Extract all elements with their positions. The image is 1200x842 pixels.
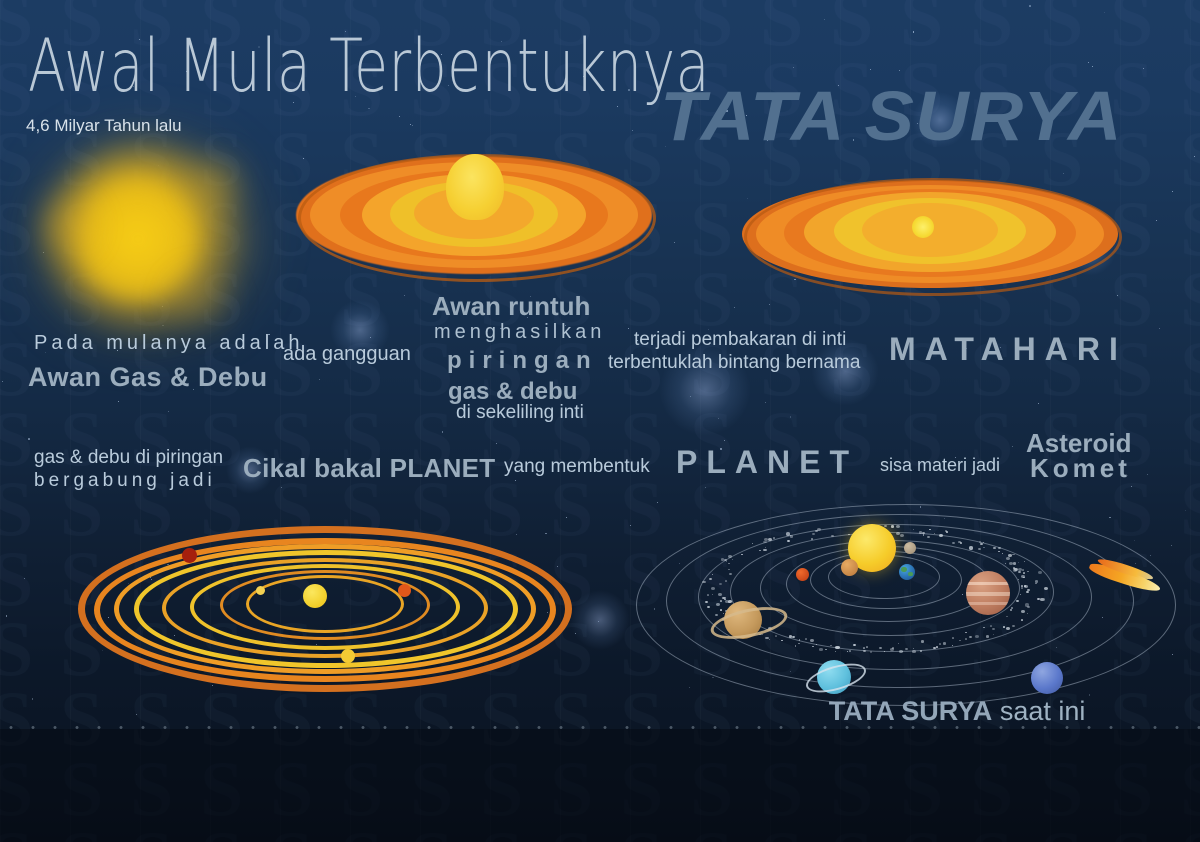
planetesimal — [303, 584, 327, 608]
planet-uranus — [806, 655, 864, 697]
protoplanetary-disk-1 — [296, 148, 652, 284]
caption-collapse-4: gas & debu — [448, 378, 577, 406]
caption-collapse-2: menghasilkan — [434, 321, 605, 344]
label-asteroid: Asteroid — [1026, 428, 1131, 459]
label-protoplanet: Cikal bakal PLANET — [243, 453, 495, 484]
watermark-pattern — [0, 0, 1200, 842]
gas-cloud-illustration — [20, 120, 270, 355]
label-planet: PLANET — [676, 444, 858, 481]
caption-cloud-bold: Awan Gas & Debu — [28, 362, 268, 393]
caption-fusion-2: terbentuklah bintang bernama — [608, 352, 860, 374]
planet-venus — [841, 559, 858, 576]
caption-disturbance: ada gangguan — [283, 343, 411, 366]
caption-merge-2: bergabung jadi — [34, 470, 216, 492]
comet — [1085, 551, 1165, 602]
caption-collapse-1: Awan runtuh — [432, 291, 590, 322]
planet-neptune — [1031, 662, 1063, 694]
label-komet: Komet — [1030, 453, 1131, 484]
label-current-system-bold: TATA SURYA — [829, 696, 993, 726]
caption-cloud-light: Pada mulanya adalah — [34, 332, 303, 355]
protoplanetary-disk-2 — [742, 176, 1118, 294]
caption-leftover: sisa materi jadi — [880, 455, 1000, 476]
planet-mars — [796, 568, 809, 581]
page-subtitle: 4,6 Milyar Tahun lalu — [26, 116, 182, 136]
planet-earth — [899, 564, 915, 580]
planet-saturn — [711, 596, 781, 644]
protoplanetary-orbits-illustration — [78, 522, 562, 682]
headline-tata-surya: TATA SURYA — [660, 76, 1123, 156]
caption-fusion-1: terjadi pembakaran di inti — [634, 329, 846, 351]
caption-collapse-3: piringan — [447, 347, 598, 375]
page-title: Awal Mula Terbentuknya — [28, 24, 710, 109]
footer: LANGITSELATANASTRO 101•• — [0, 729, 1200, 842]
planetesimal — [256, 586, 265, 595]
planetesimal — [182, 548, 197, 563]
caption-forming: yang membentuk — [504, 456, 650, 478]
planet-sun — [848, 524, 896, 572]
label-current-system-light: saat ini — [1000, 696, 1086, 726]
label-matahari: MATAHARI — [889, 331, 1127, 368]
planet-mercury — [904, 542, 916, 554]
planet-jupiter — [966, 571, 1010, 615]
caption-collapse-5: di sekeliling inti — [456, 402, 584, 424]
infographic-poster: SSSSSSSSSSSSSSSSSSSSSSSSSSSSSSSSSSSSSSSS… — [0, 0, 1200, 842]
planetesimal — [341, 649, 355, 663]
caption-merge-1: gas & debu di piringan — [34, 447, 223, 469]
planetesimal — [398, 584, 411, 597]
current-solar-system-diagram — [648, 500, 1200, 705]
